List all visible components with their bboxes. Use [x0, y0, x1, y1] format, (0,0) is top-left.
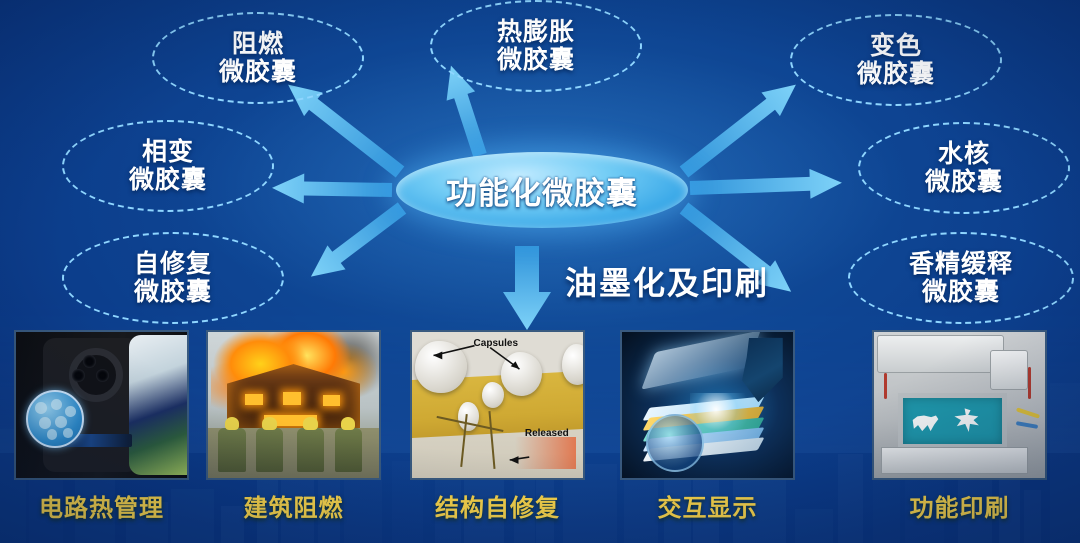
bubble-thermal-expansion[interactable]: 热膨胀 微胶囊 — [430, 0, 642, 92]
bubble-label-line1: 阻燃 — [232, 30, 284, 58]
photo-smartphone-microcapsule — [14, 330, 189, 480]
bubble-label-line2: 微胶囊 — [857, 60, 935, 88]
gallery-card-building-flame-retardant[interactable]: 建筑阻燃 — [206, 330, 381, 480]
bubble-label-line2: 微胶囊 — [134, 278, 212, 306]
bubble-label-line1: 相变 — [142, 138, 194, 166]
bubble-phase-change[interactable]: 相变 微胶囊 — [62, 120, 274, 212]
gallery-caption: 结构自修复 — [410, 488, 585, 523]
bubble-label-line1: 热膨胀 — [497, 18, 575, 46]
gallery-card-interactive-display[interactable]: 交互显示 — [620, 330, 795, 480]
bubble-fragrance-release[interactable]: 香精缓释 微胶囊 — [848, 232, 1074, 324]
bubble-label-line2: 微胶囊 — [497, 46, 575, 74]
bubble-self-healing[interactable]: 自修复 微胶囊 — [62, 232, 284, 324]
photo-inner-label-released: Released — [525, 428, 569, 439]
bubble-label-line2: 微胶囊 — [925, 168, 1003, 196]
photo-glowing-display — [620, 330, 795, 480]
gallery-card-functional-printing[interactable]: 功能印刷 — [872, 330, 1047, 480]
ink-printing-label: 油墨化及印刷 — [565, 258, 769, 304]
bubble-label-line2: 微胶囊 — [219, 58, 297, 86]
gallery-caption: 电路热管理 — [14, 488, 189, 523]
bubble-label-line1: 变色 — [870, 32, 922, 60]
down-arrow — [503, 246, 551, 330]
bubble-color-changing[interactable]: 变色 微胶囊 — [790, 14, 1002, 106]
photo-capsules-released-diagram: Capsules Released — [410, 330, 585, 480]
application-gallery: 电路热管理 — [0, 330, 1080, 543]
photo-burning-house — [206, 330, 381, 480]
bubble-label-line1: 香精缓释 — [909, 250, 1013, 278]
photo-inner-label-capsules: Capsules — [474, 338, 518, 349]
diagram-canvas: 阻燃 微胶囊 热膨胀 微胶囊 变色 微胶囊 相变 微胶囊 水核 微胶囊 自修复 … — [0, 0, 1080, 543]
center-node-functional-microcapsule[interactable]: 功能化微胶囊 — [396, 152, 688, 228]
gallery-card-structural-self-healing[interactable]: Capsules Released 结构自修复 — [410, 330, 585, 480]
bubble-label-line1: 水核 — [938, 140, 990, 168]
bubble-label-line2: 微胶囊 — [129, 166, 207, 194]
center-node-label: 功能化微胶囊 — [446, 168, 638, 213]
bubble-label-line2: 微胶囊 — [922, 278, 1000, 306]
gallery-caption: 交互显示 — [620, 488, 795, 523]
gallery-card-thermal-management[interactable]: 电路热管理 — [14, 330, 189, 480]
bubble-water-core[interactable]: 水核 微胶囊 — [858, 122, 1070, 214]
photo-screen-printing-machine — [872, 330, 1047, 480]
bubble-label-line1: 自修复 — [134, 250, 212, 278]
gallery-caption: 建筑阻燃 — [206, 488, 381, 523]
gallery-caption: 功能印刷 — [872, 488, 1047, 523]
bubble-flame-retardant[interactable]: 阻燃 微胶囊 — [152, 12, 364, 104]
